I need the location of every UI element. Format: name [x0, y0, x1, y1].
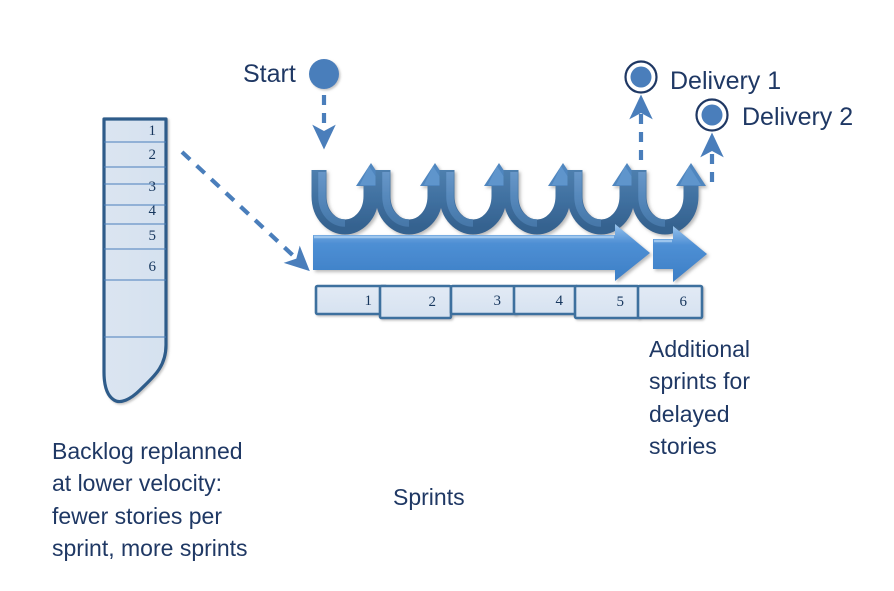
start-marker	[309, 59, 339, 136]
sprints-label: Sprints	[393, 483, 465, 513]
delivery-2-label: Delivery 2	[742, 101, 853, 134]
delivery-2-dot	[702, 105, 723, 126]
backlog-row-1: 1	[104, 123, 156, 140]
additional-sprints-caption: Additional sprints for delayed stories	[649, 333, 750, 463]
sprint-loop-6	[639, 163, 706, 227]
sprint-box-label-2: 2	[380, 294, 436, 311]
delivery-1-dot	[631, 67, 652, 88]
start-circle	[309, 59, 339, 89]
backlog-row-5: 5	[104, 228, 156, 245]
backlog-row-4: 4	[104, 203, 156, 220]
delivery-1-label: Delivery 1	[670, 65, 781, 98]
sprint-box-label-3: 3	[451, 293, 501, 310]
extra-sprints-arrow	[653, 226, 707, 282]
start-label: Start	[243, 58, 296, 91]
backlog-row-6: 6	[104, 259, 156, 276]
sprint-box-label-1: 1	[316, 293, 372, 310]
sprint-box-label-4: 4	[514, 293, 563, 310]
backlog-to-timeline-arrow	[182, 152, 300, 262]
backlog-row-2: 2	[104, 147, 156, 164]
diagram-canvas: 1 2 3 4 5 6 1 2 3 4 5 6 Start Delivery 1…	[0, 0, 894, 591]
sprint-loops	[319, 163, 706, 227]
sprint-box-label-6: 6	[638, 294, 687, 311]
backlog-caption: Backlog replanned at lower velocity: few…	[52, 435, 248, 565]
backlog-row-3: 3	[104, 179, 156, 196]
sprint-box-label-5: 5	[575, 294, 624, 311]
delivery-2-marker	[697, 100, 728, 183]
delivery-1-marker	[626, 62, 657, 161]
